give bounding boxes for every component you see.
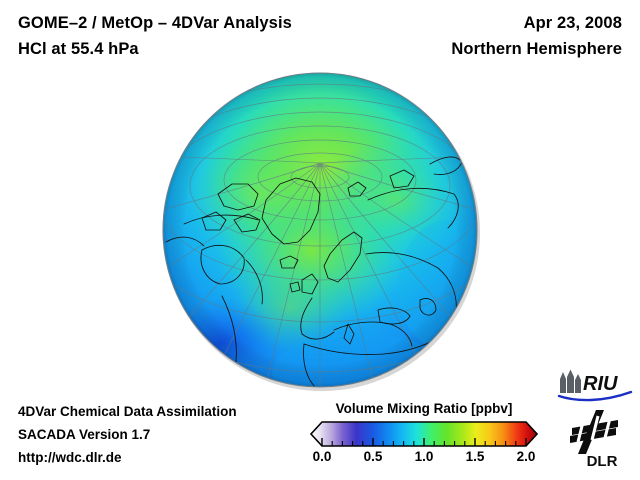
colorbar-tick-label: 0.0 (313, 449, 332, 464)
colorbar-tick-label: 1.0 (415, 449, 434, 464)
region-label: Northern Hemisphere (451, 40, 622, 59)
colorbar-tick-labels: 0.00.51.01.52.0 (310, 449, 538, 467)
date-label: Apr 23, 2008 (524, 14, 622, 33)
globe-map (162, 72, 478, 388)
riu-logo: RIU (557, 369, 633, 403)
dlr-logo: DLR (566, 408, 636, 470)
page-title: GOME–2 / MetOp – 4DVar Analysis (18, 14, 292, 33)
visualization-canvas: GOME–2 / MetOp – 4DVar Analysis HCl at 5… (0, 0, 640, 480)
globe-svg (162, 72, 478, 388)
footer-line-assimilation: 4DVar Chemical Data Assimilation (18, 404, 237, 419)
page-subtitle: HCl at 55.4 hPa (18, 40, 139, 59)
riu-wordmark: RIU (583, 373, 618, 395)
colorbar (310, 421, 538, 447)
riu-spire-icon (560, 370, 581, 394)
dlr-wordmark: DLR (587, 453, 618, 470)
colorbar-tick-label: 0.5 (364, 449, 383, 464)
colorbar-tick-label: 2.0 (517, 449, 536, 464)
footer-line-url: http://wdc.dlr.de (18, 450, 122, 465)
colorbar-tick-label: 1.5 (466, 449, 485, 464)
colorbar-title: Volume Mixing Ratio [ppbv] (312, 401, 536, 416)
dlr-logo-svg: DLR (566, 408, 636, 470)
footer-line-version: SACADA Version 1.7 (18, 427, 150, 442)
riu-logo-svg: RIU (557, 369, 633, 403)
colorbar-svg (310, 421, 538, 447)
